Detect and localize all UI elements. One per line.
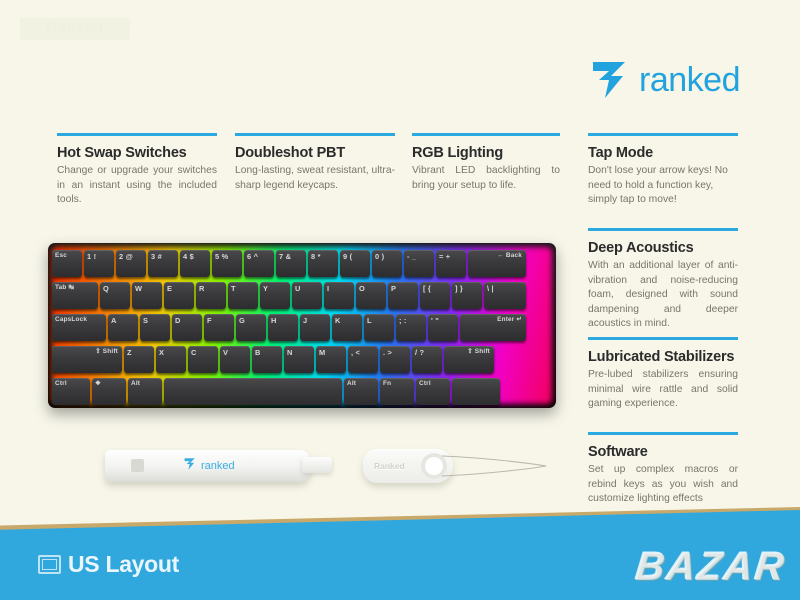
keyboard-key[interactable]: 2 @ xyxy=(116,250,146,277)
accent-rule xyxy=(588,432,738,435)
keyboard-key[interactable]: / ? xyxy=(412,346,442,373)
feature-body: With an additional layer of anti-vibrati… xyxy=(588,259,738,332)
keyboard-key[interactable]: R xyxy=(196,282,226,309)
key-legend: Alt xyxy=(347,381,356,388)
keyboard-key[interactable]: , < xyxy=(348,346,378,373)
keyboard-key[interactable]: P xyxy=(388,282,418,309)
key-legend: E xyxy=(167,285,172,293)
keyboard-key[interactable]: C xyxy=(188,346,218,373)
keyboard-key[interactable]: 8 * xyxy=(308,250,338,277)
key-legend: - _ xyxy=(407,253,416,261)
keyboard-key[interactable]: 6 ^ xyxy=(244,250,274,277)
key-legend: Fn xyxy=(383,381,391,388)
key-legend: 3 # xyxy=(151,253,162,261)
keyboard-row: Tab ↹QWERTYUIOP[ {] }\ | xyxy=(52,282,526,309)
feature-title: Doubleshot PBT xyxy=(235,145,395,161)
key-legend: L xyxy=(367,317,372,325)
key-legend: Q xyxy=(103,285,109,293)
key-legend: Alt xyxy=(131,381,140,388)
key-legend: C xyxy=(191,349,197,357)
watermark-top-left: Ranked xyxy=(20,18,130,40)
keyboard-key[interactable]: Y xyxy=(260,282,290,309)
keyboard-key[interactable]: ⇧ Shift xyxy=(52,346,122,373)
key-legend: I xyxy=(327,285,329,293)
feature-title: Software xyxy=(588,444,738,460)
keyboard-body: Esc1 !2 @3 #4 $5 %6 ^7 &8 *9 (0 )- _= +←… xyxy=(48,243,556,408)
feature-body: Pre-lubed stabilizers ensuring minimal w… xyxy=(588,368,738,412)
feature-lubricated-stabilizers: Lubricated Stabilizers Pre-lubed stabili… xyxy=(588,337,738,412)
keyboard-key[interactable]: 0 ) xyxy=(372,250,402,277)
feature-title: Deep Acoustics xyxy=(588,240,738,256)
keyboard-key[interactable]: Ctrl xyxy=(52,378,90,405)
key-legend: 9 ( xyxy=(343,253,352,261)
keyboard-key[interactable] xyxy=(164,378,342,405)
tool-tip xyxy=(302,457,332,473)
feature-hot-swap-switches: Hot Swap Switches Change or upgrade your… xyxy=(57,133,217,208)
key-legend: S xyxy=(143,317,148,325)
key-legend: / ? xyxy=(415,349,424,357)
tool-brand-name: Ranked xyxy=(374,461,405,471)
feature-tap-mode: Tap Mode Don't lose your arrow keys! No … xyxy=(588,133,738,208)
banner-content: US Layout xyxy=(38,551,179,578)
keyboard-key[interactable]: S xyxy=(140,314,170,341)
key-legend: P xyxy=(391,285,396,293)
feature-title: Lubricated Stabilizers xyxy=(588,349,738,365)
key-legend: 4 $ xyxy=(183,253,194,261)
ranked-arrow-logo-icon xyxy=(589,58,631,102)
feature-title: Tap Mode xyxy=(588,145,738,161)
tool-brand-name: ranked xyxy=(201,460,235,472)
keyboard-key[interactable]: T xyxy=(228,282,258,309)
keyboard-key[interactable]: Alt xyxy=(128,378,162,405)
keyboard-key[interactable]: 5 % xyxy=(212,250,242,277)
key-legend: 0 ) xyxy=(375,253,384,261)
keyboard-key[interactable]: ← Back xyxy=(468,250,526,277)
keyboard-key[interactable]: Esc xyxy=(52,250,82,277)
feature-rgb-lighting: RGB Lighting Vibrant LED backlighting to… xyxy=(412,133,560,193)
keyboard-key[interactable]: . > xyxy=(380,346,410,373)
key-legend: R xyxy=(199,285,205,293)
keyboard-key[interactable]: Enter ↵ xyxy=(460,314,526,341)
key-legend: ← Back xyxy=(497,253,522,260)
key-legend: F xyxy=(207,317,212,325)
keycap-puller-tool: ranked xyxy=(105,450,310,482)
key-legend: U xyxy=(295,285,301,293)
keyboard-key[interactable]: J xyxy=(300,314,330,341)
key-legend: W xyxy=(135,285,142,293)
key-legend: T xyxy=(231,285,236,293)
banner-label: US Layout xyxy=(68,551,179,578)
feature-body: Change or upgrade your switches in an in… xyxy=(57,164,217,208)
keyboard-key[interactable]: A xyxy=(108,314,138,341)
accent-rule xyxy=(588,337,738,340)
keyboard-key[interactable]: X xyxy=(156,346,186,373)
key-legend: 7 & xyxy=(279,253,291,261)
key-legend: H xyxy=(271,317,277,325)
brand-name: ranked xyxy=(639,61,740,100)
keyboard-key[interactable]: = + xyxy=(436,250,466,277)
brand-logo: ranked xyxy=(589,58,740,102)
keyboard-key[interactable]: Alt xyxy=(344,378,378,405)
feature-title: Hot Swap Switches xyxy=(57,145,217,161)
feature-body: Vibrant LED backlighting to bring your s… xyxy=(412,164,560,193)
keyboard-key[interactable]: Ctrl xyxy=(416,378,450,405)
key-legend: ❖ xyxy=(95,381,101,388)
key-legend: 6 ^ xyxy=(247,253,258,261)
key-legend: = + xyxy=(439,253,450,261)
keyboard-key[interactable] xyxy=(452,378,500,405)
key-legend: ⇧ Shift xyxy=(95,349,118,356)
key-legend: ' " xyxy=(431,317,439,325)
keyboard-key[interactable]: B xyxy=(252,346,282,373)
keyboard-row: CapsLockASDFGHJKL; :' "Enter ↵ xyxy=(52,314,526,341)
keyboard-key[interactable]: ] } xyxy=(452,282,482,309)
tool-brand-mark: ranked xyxy=(183,457,235,476)
key-legend: K xyxy=(335,317,341,325)
keyboard-key[interactable]: [ { xyxy=(420,282,450,309)
keyboard-key[interactable]: H xyxy=(268,314,298,341)
watermark-bazar: BAZAR xyxy=(634,545,789,590)
key-legend: V xyxy=(223,349,228,357)
feature-body: Set up complex macros or rebind keys as … xyxy=(588,463,738,507)
keyboard-key[interactable]: 9 ( xyxy=(340,250,370,277)
keyboard-row: Esc1 !2 @3 #4 $5 %6 ^7 &8 *9 (0 )- _= +←… xyxy=(52,250,526,277)
keyboard-key[interactable]: Z xyxy=(124,346,154,373)
key-legend: ; : xyxy=(399,317,407,325)
key-legend: Enter ↵ xyxy=(497,317,522,324)
feature-software: Software Set up complex macros or rebind… xyxy=(588,432,738,507)
keyboard-key[interactable]: - _ xyxy=(404,250,434,277)
feature-doubleshot-pbt: Doubleshot PBT Long-lasting, sweat resis… xyxy=(235,133,395,193)
keyboard-key[interactable]: I xyxy=(324,282,354,309)
keyboard-key[interactable]: W xyxy=(132,282,162,309)
keyboard-key[interactable]: L xyxy=(364,314,394,341)
key-legend: 1 ! xyxy=(87,253,96,261)
key-legend: Ctrl xyxy=(55,381,67,388)
keyboard-key[interactable]: Q xyxy=(100,282,130,309)
feature-deep-acoustics: Deep Acoustics With an additional layer … xyxy=(588,228,738,332)
keyboard-key[interactable]: 1 ! xyxy=(84,250,114,277)
feature-body: Don't lose your arrow keys! No need to h… xyxy=(588,164,738,208)
ranked-arrow-logo-icon xyxy=(183,457,197,476)
key-legend: , < xyxy=(351,349,360,357)
keyboard-row: ⇧ ShiftZXCVBNM, <. >/ ?⇧ Shift xyxy=(52,346,494,373)
feature-body: Long-lasting, sweat resistant, ultra-sha… xyxy=(235,164,395,193)
keyboard-key[interactable]: V xyxy=(220,346,250,373)
key-legend: X xyxy=(159,349,164,357)
keyboard-key[interactable]: F xyxy=(204,314,234,341)
accent-rule xyxy=(588,228,738,231)
keyboard-key[interactable]: 3 # xyxy=(148,250,178,277)
key-legend: 8 * xyxy=(311,253,321,261)
key-legend: O xyxy=(359,285,365,293)
keyboard-key[interactable]: K xyxy=(332,314,362,341)
key-legend: ⇧ Shift xyxy=(467,349,490,356)
key-legend: . > xyxy=(383,349,392,357)
keyboard-key[interactable]: Fn xyxy=(380,378,414,405)
tool-detail xyxy=(131,459,144,472)
infographic-canvas: Ranked ranked Hot Swap Switches Change o… xyxy=(0,0,800,600)
key-legend: M xyxy=(319,349,325,357)
key-legend: Esc xyxy=(55,253,67,260)
key-legend: A xyxy=(111,317,117,325)
key-legend: 5 % xyxy=(215,253,228,261)
accent-rule xyxy=(235,133,395,136)
keyboard-key[interactable]: ❖ xyxy=(92,378,126,405)
keyboard-key[interactable]: M xyxy=(316,346,346,373)
keyboard-key[interactable]: ' " xyxy=(428,314,458,341)
key-legend: Ctrl xyxy=(419,381,431,388)
key-legend: Tab ↹ xyxy=(55,285,74,292)
keyboard-key[interactable]: \ | xyxy=(484,282,526,309)
keyboard-key[interactable]: G xyxy=(236,314,266,341)
keyboard-key[interactable]: ; : xyxy=(396,314,426,341)
keyboard-key[interactable]: N xyxy=(284,346,314,373)
key-legend: CapsLock xyxy=(55,317,87,324)
key-legend: Z xyxy=(127,349,132,357)
keyboard-key[interactable]: Tab ↹ xyxy=(52,282,98,309)
keyboard-key[interactable]: O xyxy=(356,282,386,309)
key-legend: ] } xyxy=(455,285,463,293)
keyboard-key[interactable]: 4 $ xyxy=(180,250,210,277)
key-legend: J xyxy=(303,317,307,325)
keyboard-key[interactable]: E xyxy=(164,282,194,309)
key-legend: [ { xyxy=(423,285,431,293)
key-legend: D xyxy=(175,317,181,325)
keyboard-key[interactable]: U xyxy=(292,282,322,309)
key-legend: G xyxy=(239,317,245,325)
keyboard-key[interactable]: ⇧ Shift xyxy=(444,346,494,373)
accent-rule xyxy=(412,133,560,136)
keyboard-row: Ctrl❖AltAltFnCtrl xyxy=(52,378,500,405)
key-legend: Y xyxy=(263,285,268,293)
keyboard-keys-plate: Esc1 !2 @3 #4 $5 %6 ^7 &8 *9 (0 )- _= +←… xyxy=(52,248,552,402)
wire-keycap-puller-loop xyxy=(440,452,550,480)
feature-title: RGB Lighting xyxy=(412,145,560,161)
key-legend: 2 @ xyxy=(119,253,133,261)
keyboard-icon xyxy=(38,555,61,574)
accent-rule xyxy=(588,133,738,136)
key-legend: B xyxy=(255,349,261,357)
key-legend: \ | xyxy=(487,285,494,293)
keyboard-key[interactable]: CapsLock xyxy=(52,314,106,341)
key-legend: N xyxy=(287,349,293,357)
accent-rule xyxy=(57,133,217,136)
keyboard-key[interactable]: D xyxy=(172,314,202,341)
keyboard-product-image: Esc1 !2 @3 #4 $5 %6 ^7 &8 *9 (0 )- _= +←… xyxy=(48,243,556,408)
keyboard-key[interactable]: 7 & xyxy=(276,250,306,277)
